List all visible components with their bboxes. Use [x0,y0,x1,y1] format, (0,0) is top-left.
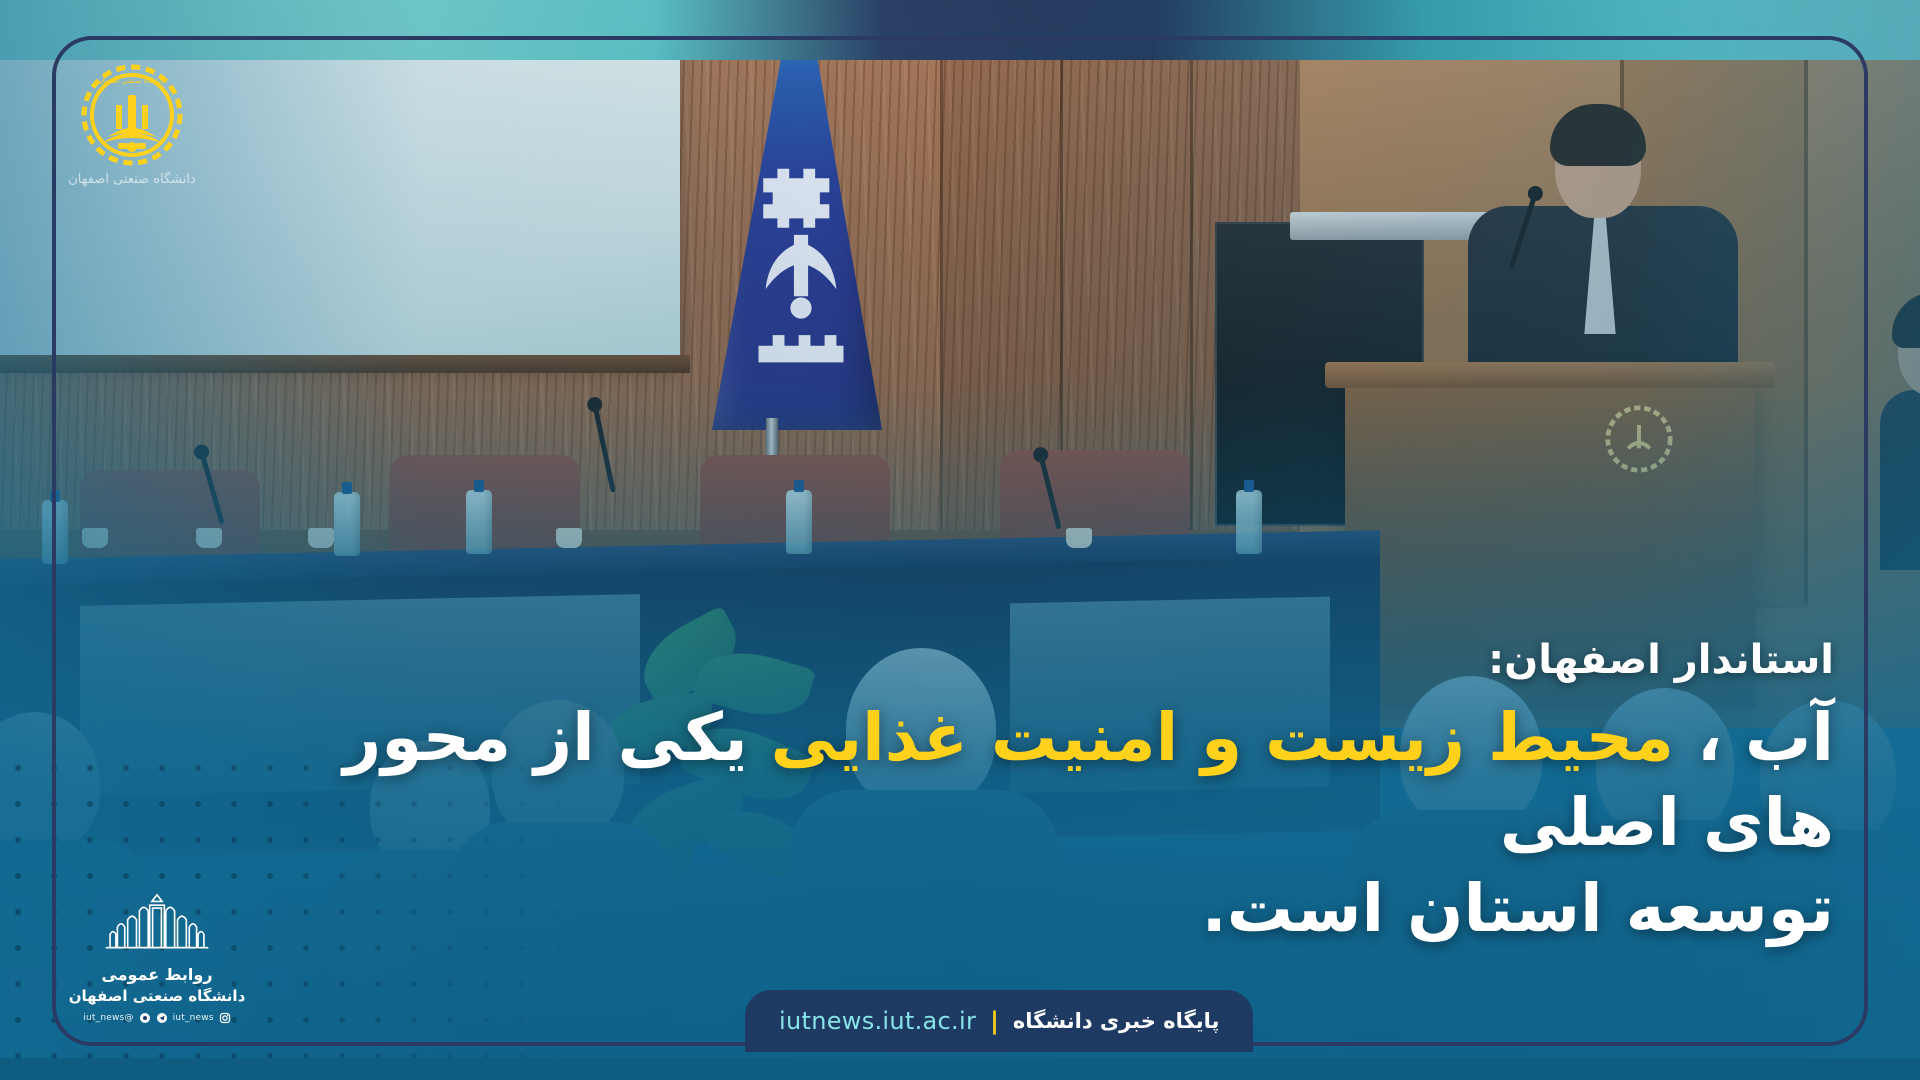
instagram-handle: iut_news [173,1013,214,1023]
aparat-handle: @iut_news [83,1013,133,1023]
pr-title-line2: دانشگاه صنعتی اصفهان [62,987,252,1005]
naqsh-e-jahan-skyline-mark [97,889,217,955]
news-site-url[interactable]: iutnews.iut.ac.ir [779,1007,976,1035]
instagram-icon[interactable] [219,1012,231,1024]
pr-title-line1: روابط عمومی [62,965,252,984]
news-site-label: پایگاه خبری دانشگاه [1013,1009,1220,1033]
headline-kicker: استاندار اصفهان: [234,637,1834,683]
telegram-icon[interactable] [156,1012,168,1024]
page-title: آب ، محیط زیست و امنیت غذایی یکی از محور… [234,695,1834,952]
aparat-icon[interactable] [139,1012,151,1024]
public-relations-block: روابط عمومی دانشگاه صنعتی اصفهان iut_new… [62,889,252,1024]
iut-gear-emblem: دانشگاه صنعتی اصفهان [72,55,192,175]
headline-line1-start: آب ، [1674,699,1834,776]
pr-social-row: iut_news @iut_news [62,1012,252,1024]
headline-block: استاندار اصفهان: آب ، محیط زیست و امنیت … [234,637,1834,952]
news-site-badge[interactable]: پایگاه خبری دانشگاه | iutnews.iut.ac.ir [745,990,1253,1052]
news-banner: دانشگاه صنعتی اصفهان دانشگاه صنعتی اصفها… [0,0,1920,1080]
badge-separator: | [990,1009,999,1033]
headline-line2: توسعه استان است. [1202,870,1834,947]
headline-line1-accent: محیط زیست و امنیت غذایی [771,699,1674,776]
bottom-bar [0,1058,1920,1080]
svg-text:دانشگاه صنعتی اصفهان: دانشگاه صنعتی اصفهان [98,76,167,85]
emblem-caption: دانشگاه صنعتی اصفهان [62,172,202,187]
